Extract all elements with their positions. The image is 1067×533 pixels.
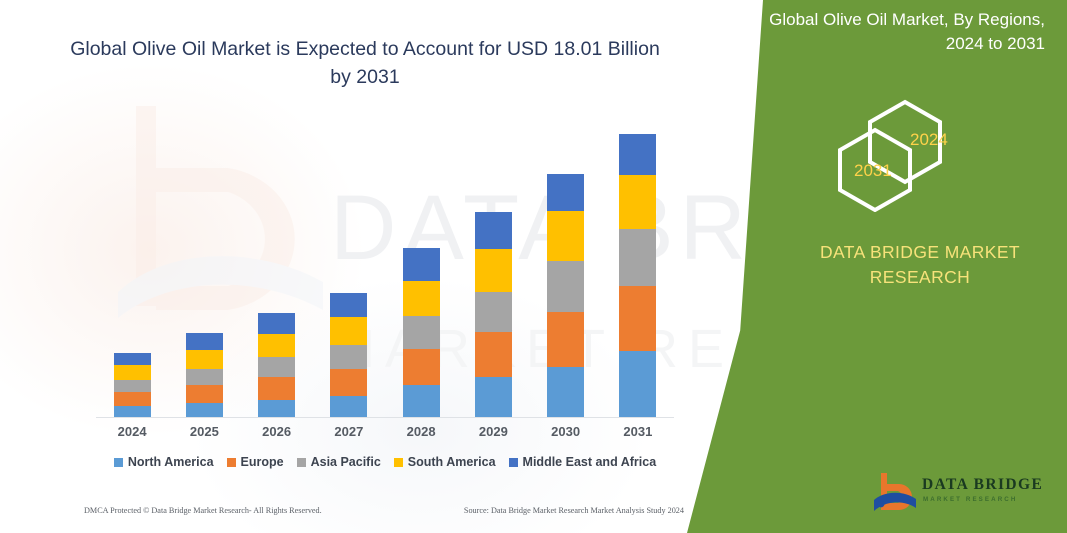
bar-segment [330,293,367,317]
bar-segment [403,385,440,417]
footer-copyright: DMCA Protected © Data Bridge Market Rese… [84,506,322,515]
bar-segment [186,350,223,369]
stacked-bar [258,313,295,417]
bar-segment [619,351,656,417]
bar-segment [114,406,151,417]
stacked-bar [186,333,223,417]
panel-title: Global Olive Oil Market, By Regions, 202… [735,8,1045,56]
x-tick-label: 2027 [313,424,385,439]
chart-panel: DATA BRIDGE MARKET RESEARCH Global Olive… [0,0,760,533]
bar-segment [330,396,367,417]
x-tick-label: 2029 [457,424,529,439]
x-tick-label: 2026 [241,424,313,439]
bar-column [385,110,457,417]
bar-segment [547,261,584,311]
stacked-bar [547,174,584,417]
legend-item[interactable]: South America [394,455,496,469]
bar-segment [186,403,223,417]
bar-segment [403,248,440,280]
bar-column [241,110,313,417]
x-tick-label: 2030 [530,424,602,439]
bar-segment [186,333,223,350]
dbmr-logo-icon [872,470,918,516]
dbmr-logo-tagline: MARKET RESEARCH [923,496,1017,503]
bar-segment [475,377,512,417]
bar-segment [547,312,584,367]
brand-name: DATA BRIDGE MARKET RESEARCH [775,240,1065,291]
bar-segment [619,229,656,285]
bar-segment [330,345,367,369]
bar-segment [330,369,367,396]
legend-label: Middle East and Africa [523,455,657,469]
legend-item[interactable]: Europe [227,455,284,469]
legend-swatch-icon [394,458,403,467]
legend-swatch-icon [114,458,123,467]
bar-segment [186,385,223,403]
bar-segment [547,367,584,417]
legend-swatch-icon [227,458,236,467]
stacked-bar [475,212,512,417]
legend-item[interactable]: Middle East and Africa [509,455,657,469]
legend-swatch-icon [509,458,518,467]
bar-segment [258,377,295,400]
bar-segment [258,313,295,334]
x-axis-tick-labels: 20242025202620272028202920302031 [96,424,674,439]
bar-segment [619,134,656,175]
bar-column [530,110,602,417]
bar-segment [475,332,512,377]
bar-segment [547,174,584,211]
bar-segment [475,292,512,332]
legend-swatch-icon [297,458,306,467]
stacked-bar [114,353,151,417]
bar-column [168,110,240,417]
bar-segment [475,212,512,249]
hexagon-label-start-year: 2024 [910,130,948,150]
chart-legend: North AmericaEuropeAsia PacificSouth Ame… [96,455,674,469]
legend-label: Asia Pacific [311,455,381,469]
stacked-bar [619,134,656,417]
x-tick-label: 2028 [385,424,457,439]
legend-label: South America [408,455,496,469]
dbmr-logo-wordmark: DATA BRIDGE [922,476,1043,494]
hexagon-pair-icon [820,92,990,212]
hexagon-label-end-year: 2031 [854,161,892,181]
bar-segment [114,365,151,380]
bar-column [602,110,674,417]
stacked-bar-plot [96,110,674,417]
bar-segment [475,249,512,291]
bar-segment [114,380,151,392]
legend-item[interactable]: Asia Pacific [297,455,381,469]
legend-label: North America [128,455,214,469]
footer: DMCA Protected © Data Bridge Market Rese… [84,506,684,515]
bar-segment [186,369,223,385]
bar-segment [330,317,367,345]
bar-segment [403,316,440,349]
footer-source: Source: Data Bridge Market Research Mark… [464,506,684,515]
legend-item[interactable]: North America [114,455,214,469]
bar-column [96,110,168,417]
bar-segment [619,286,656,351]
legend-label: Europe [241,455,284,469]
bar-segment [258,400,295,417]
stacked-bar [330,293,367,417]
bar-segment [619,175,656,229]
bar-column [457,110,529,417]
x-tick-label: 2031 [602,424,674,439]
x-axis-line [96,417,674,418]
x-tick-label: 2025 [168,424,240,439]
bar-segment [114,353,151,365]
bar-segment [403,281,440,316]
stacked-bar [403,248,440,417]
bar-segment [258,334,295,357]
bar-segment [258,357,295,377]
bar-segment [403,349,440,385]
bar-column [313,110,385,417]
dbmr-logo: DATA BRIDGE MARKET RESEARCH [872,470,1057,518]
bar-segment [114,392,151,406]
bar-segment [547,211,584,261]
chart-title: Global Olive Oil Market is Expected to A… [60,36,670,91]
infographic-root: DATA BRIDGE MARKET RESEARCH Global Olive… [0,0,1067,533]
x-tick-label: 2024 [96,424,168,439]
